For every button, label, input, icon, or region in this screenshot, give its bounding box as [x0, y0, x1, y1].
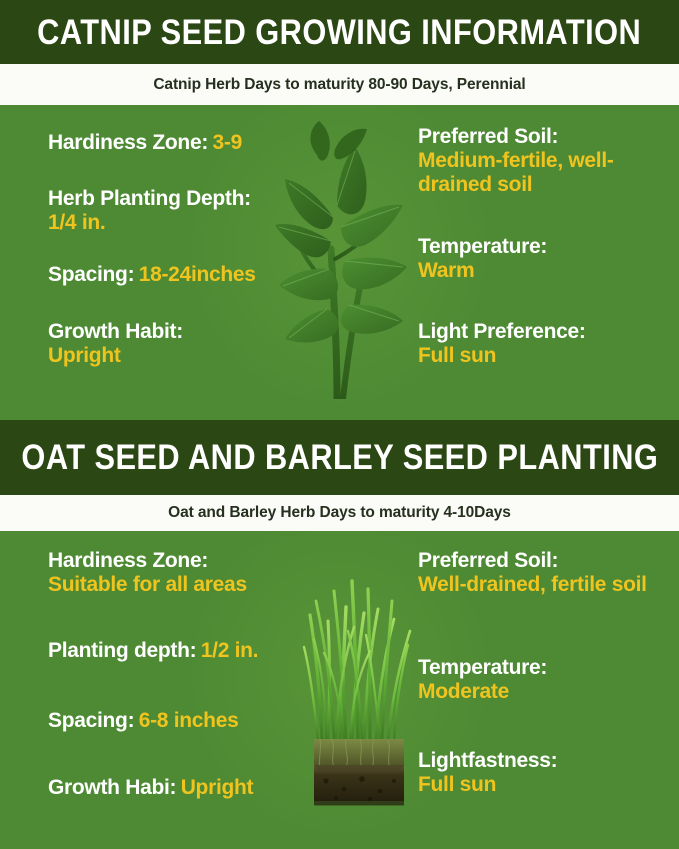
fact-temperature: Temperature: Warm [418, 235, 666, 283]
fact-planting-depth: Planting depth: 1/2 in. [48, 639, 348, 663]
fact-preferred-soil: Preferred Soil: Well-drained, fertile so… [418, 549, 666, 597]
fact-label: Preferred Soil: [418, 125, 558, 148]
fact-value: Well-drained, fertile soil [418, 573, 647, 596]
fact-value: Upright [48, 344, 121, 367]
fact-label: Growth Habit: [48, 320, 183, 343]
fact-temperature: Temperature: Moderate [418, 656, 666, 704]
fact-label: Temperature: [418, 235, 547, 258]
fact-hardiness-zone: Hardiness Zone: Suitable for all areas [48, 549, 348, 597]
oat-barley-body: Hardiness Zone: Suitable for all areas P… [0, 531, 679, 849]
fact-value: Upright [181, 776, 254, 799]
fact-label: Spacing: [48, 263, 134, 286]
fact-value: 1/4 in. [48, 211, 105, 234]
catnip-subtitle: Catnip Herb Days to maturity 80-90 Days,… [153, 76, 525, 94]
fact-preferred-soil: Preferred Soil: Medium-fertile, well-dra… [418, 125, 666, 197]
oat-barley-subtitle-bar: Oat and Barley Herb Days to maturity 4-1… [0, 495, 679, 531]
catnip-subtitle-bar: Catnip Herb Days to maturity 80-90 Days,… [0, 64, 679, 105]
fact-light-preference: Light Preference: Full sun [418, 320, 666, 368]
fact-value: Medium-fertile, well-drained soil [418, 149, 614, 196]
fact-value: 6-8 inches [139, 709, 239, 732]
fact-lightfastness: Lightfastness: Full sun [418, 749, 666, 797]
fact-value: Full sun [418, 344, 496, 367]
oat-barley-title-bar: OAT SEED AND BARLEY SEED PLANTING [0, 420, 679, 495]
catnip-title-bar: CATNIP SEED GROWING INFORMATION [0, 0, 679, 64]
fact-label: Hardiness Zone: [48, 131, 208, 154]
section-oat-barley: OAT SEED AND BARLEY SEED PLANTING Oat an… [0, 420, 679, 849]
seed-growing-infographic: CATNIP SEED GROWING INFORMATION Catnip H… [0, 0, 679, 849]
fact-label: Spacing: [48, 709, 134, 732]
fact-hardiness-zone: Hardiness Zone: 3-9 [48, 131, 348, 155]
fact-label: Hardiness Zone: [48, 549, 208, 572]
fact-label: Temperature: [418, 656, 547, 679]
section-catnip: CATNIP SEED GROWING INFORMATION Catnip H… [0, 0, 679, 420]
fact-value: 18-24inches [139, 263, 256, 286]
fact-value: 1/2 in. [201, 639, 258, 662]
fact-label: Herb Planting Depth: [48, 187, 251, 210]
fact-value: Full sun [418, 773, 496, 796]
fact-value: Suitable for all areas [48, 573, 247, 596]
catnip-body: Hardiness Zone: 3-9 Herb Planting Depth:… [0, 105, 679, 420]
fact-spacing: Spacing: 6-8 inches [48, 709, 348, 733]
fact-value: Warm [418, 259, 474, 282]
fact-label: Light Preference: [418, 320, 586, 343]
fact-growth-habit: Growth Habi: Upright [48, 776, 348, 800]
fact-label: Planting depth: [48, 639, 196, 662]
fact-growth-habit: Growth Habit: Upright [48, 320, 348, 368]
fact-value: 3-9 [213, 131, 242, 154]
oat-barley-title: OAT SEED AND BARLEY SEED PLANTING [21, 440, 658, 475]
fact-label: Lightfastness: [418, 749, 557, 772]
fact-planting-depth: Herb Planting Depth: 1/4 in. [48, 187, 348, 235]
fact-label: Growth Habi: [48, 776, 176, 799]
oat-barley-subtitle: Oat and Barley Herb Days to maturity 4-1… [168, 504, 511, 522]
fact-spacing: Spacing: 18-24inches [48, 263, 348, 287]
fact-label: Preferred Soil: [418, 549, 558, 572]
catnip-title: CATNIP SEED GROWING INFORMATION [38, 15, 642, 50]
fact-value: Moderate [418, 680, 509, 703]
